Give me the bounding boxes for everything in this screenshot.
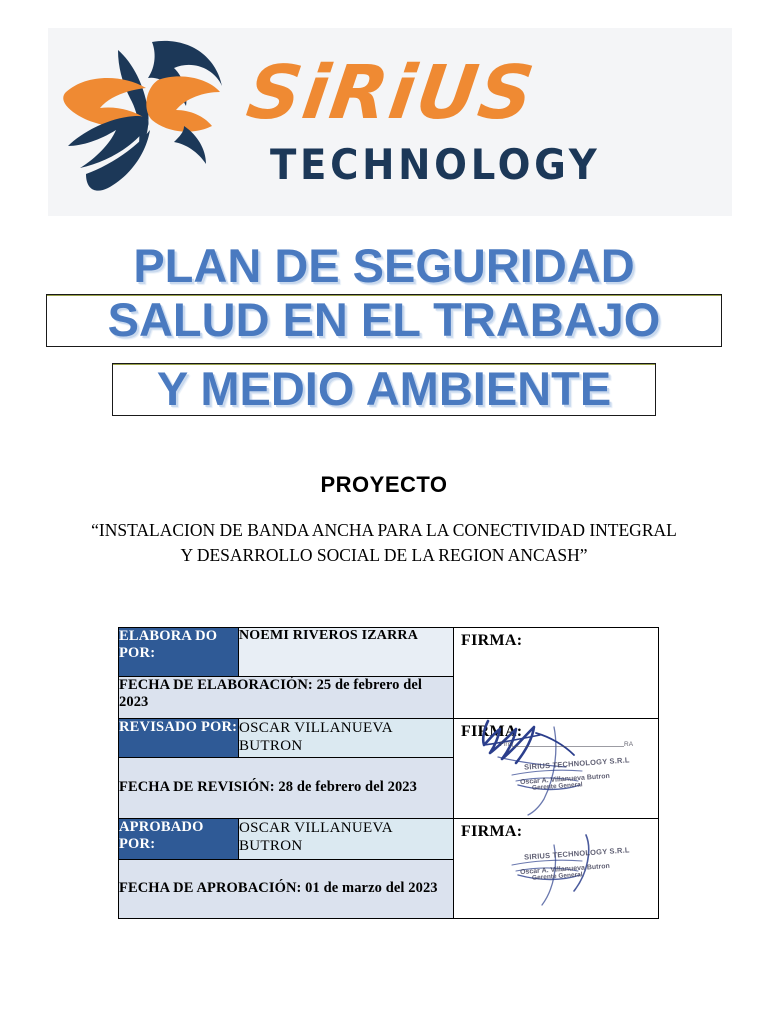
logo-technology-text: TECHNOLOGY: [270, 144, 600, 186]
stamp-role-2: Gerente General: [532, 781, 583, 792]
label-elaborado-por: ELABORA DO POR:: [119, 628, 239, 677]
title-line-1: PLAN DE SEGURIDAD: [0, 240, 768, 291]
company-logo-banner: SiRiUS TECHNOLOGY: [48, 28, 732, 216]
table-row-revisado: REVISADO POR: OSCAR VILLANUEVA BUTRON FI…: [119, 719, 659, 758]
date-elaboracion: FECHA DE ELABORACIÓN: 25 de febrero del …: [119, 676, 454, 718]
signature-caption-suffix-2: RA: [624, 741, 633, 748]
firma-cell-revisado: FIRMA:: [454, 719, 659, 819]
title-line-3: Y MEDIO AMBIENTE: [112, 363, 656, 416]
title-line-2: SALUD EN EL TRABAJO: [46, 294, 722, 347]
firma-cell-elaborado: FIRMA:: [454, 628, 659, 719]
document-title-block: PLAN DE SEGURIDAD SALUD EN EL TRABAJO Y …: [0, 240, 768, 416]
stamp-name-3: Oscar A. Villanueva Butron: [520, 863, 610, 876]
stamp-company-3: SIRIUS TECHNOLOGY S.R.L: [524, 845, 630, 861]
signoff-table: ELABORA DO POR: NOEMI RIVEROS IZARRA FIR…: [118, 627, 659, 919]
firma-cell-aprobado: FIRMA: SIRIUS TECHNOLOGY S.R.L: [454, 819, 659, 919]
firma-label-2: FIRMA:: [454, 719, 658, 741]
signature-rule-2: [512, 746, 624, 747]
signature-caption-prefix-2: Firm: [500, 741, 513, 748]
date-revision: FECHA DE REVISIÓN: 28 de febrero del 202…: [119, 758, 454, 819]
firma-label-1: FIRMA:: [454, 628, 658, 650]
document-page: SiRiUS TECHNOLOGY PLAN DE SEGURIDAD SALU…: [0, 0, 768, 1024]
firma-label-3: FIRMA:: [454, 819, 658, 841]
label-revisado-por: REVISADO POR:: [119, 719, 239, 758]
person-revisado-por: OSCAR VILLANUEVA BUTRON: [239, 719, 454, 758]
stamp-company-2: SIRIUS TECHNOLOGY S.R.L: [524, 755, 630, 771]
table-row-aprobado: APROBADO POR: OSCAR VILLANUEVA BUTRON FI…: [119, 819, 659, 860]
stamp-name-2: Oscar A. Villanueva Butron: [520, 773, 610, 786]
logo-wordmark-group: SiRiUS TECHNOLOGY: [248, 46, 728, 196]
table-row-elaborado: ELABORA DO POR: NOEMI RIVEROS IZARRA FIR…: [119, 628, 659, 677]
project-name: “INSTALACION DE BANDA ANCHA PARA LA CONE…: [84, 518, 684, 568]
date-aprobacion: FECHA DE APROBACIÓN: 01 de marzo del 202…: [119, 860, 454, 919]
project-heading: PROYECTO: [0, 472, 768, 498]
logo-sirius-text: SiRiUS: [243, 56, 540, 130]
label-aprobado-por: APROBADO POR:: [119, 819, 239, 860]
person-aprobado-por: OSCAR VILLANUEVA BUTRON: [239, 819, 454, 860]
sirius-atom-emblem-icon: [56, 34, 236, 214]
stamp-role-3: Gerente General: [532, 871, 583, 882]
person-elaborado-por: NOEMI RIVEROS IZARRA: [239, 628, 454, 677]
